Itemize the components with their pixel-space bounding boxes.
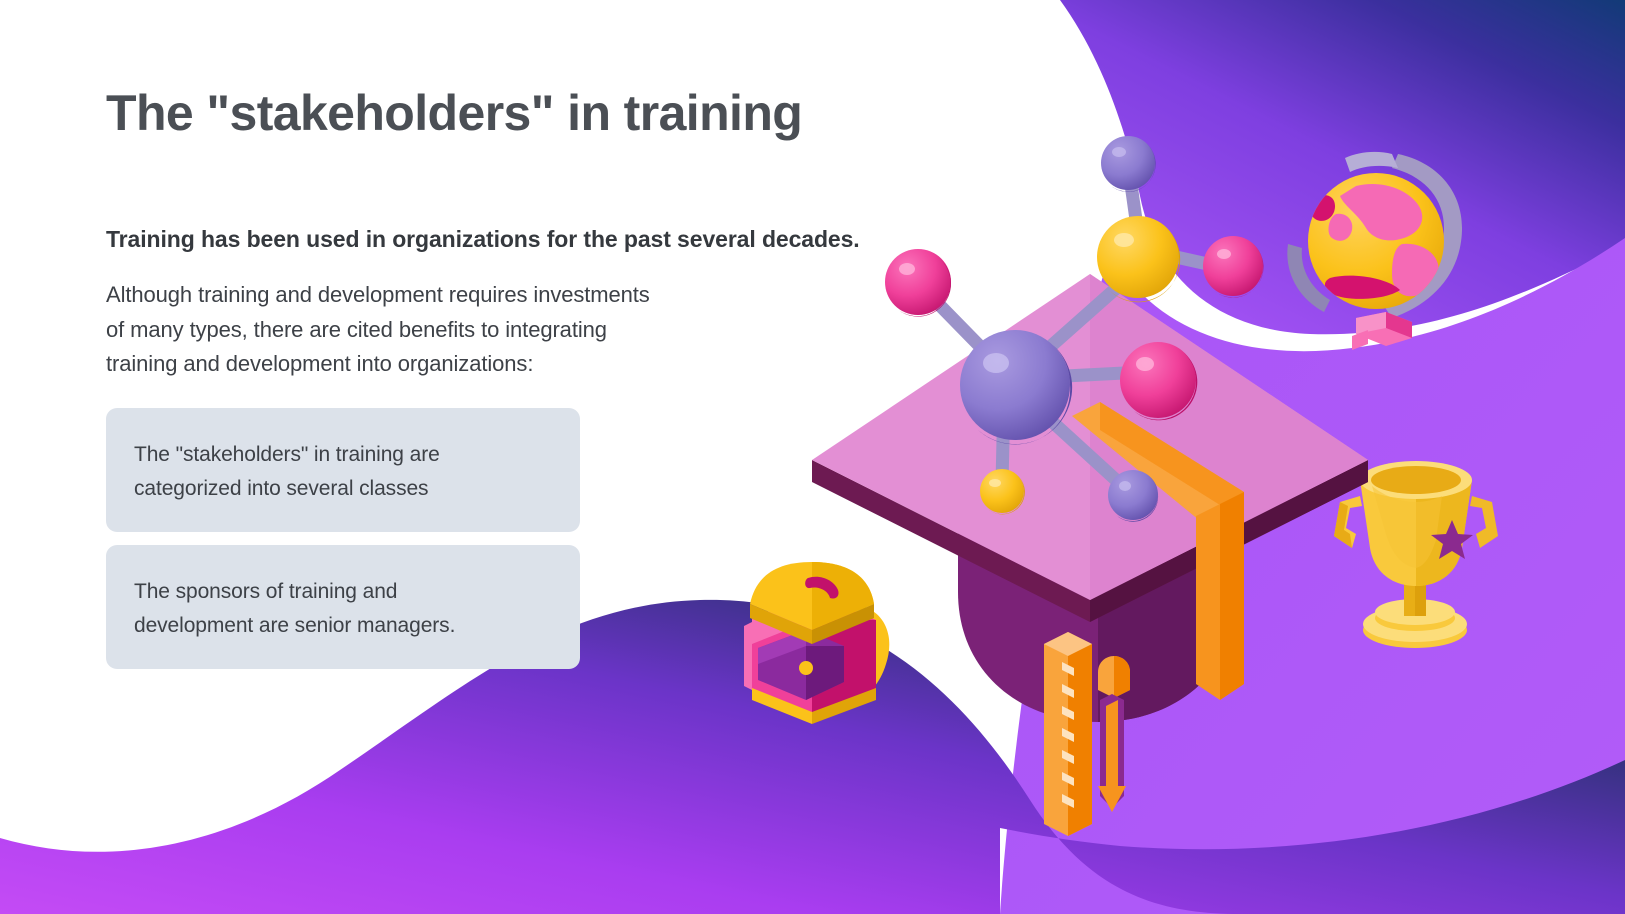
atom-yellow-upper xyxy=(1097,216,1180,302)
cap-board-top xyxy=(812,274,1368,600)
trophy-star-icon xyxy=(1431,520,1473,559)
bond-core-pinkright xyxy=(1026,372,1144,378)
callout-card-stakeholders[interactable]: The "stakeholders" in training are categ… xyxy=(106,408,580,532)
body-paragraph-line-3: training and development into organizati… xyxy=(106,347,746,382)
bond-core-pinkleft xyxy=(918,283,1005,372)
callout-card-list: The "stakeholders" in training are categ… xyxy=(106,408,580,682)
body-paragraph-line-1: Although training and development requir… xyxy=(106,278,746,313)
page-title: The "stakeholders" in training xyxy=(106,86,746,141)
bond-yellow-core xyxy=(1015,276,1130,378)
graduation-cap-icon xyxy=(812,274,1368,836)
callout-card-line: categorized into several classes xyxy=(134,472,552,506)
bond-yellow-pink xyxy=(1167,255,1221,267)
wave-top-right xyxy=(1060,0,1625,334)
body-paragraph: Although training and development requir… xyxy=(106,278,746,382)
atom-pink-right xyxy=(1120,342,1197,420)
bond-core-yellowbtm xyxy=(1002,397,1004,483)
ribbon-bookmark-icon xyxy=(1072,402,1244,700)
wave-right-purple xyxy=(1000,238,1625,914)
callout-card-sponsors[interactable]: The sponsors of training and development… xyxy=(106,545,580,669)
backpack-icon xyxy=(744,562,889,724)
callout-card-line: development are senior managers. xyxy=(134,609,552,643)
body-paragraph-line-2: of many types, there are cited benefits … xyxy=(106,313,746,348)
pencil-icon xyxy=(1044,632,1130,836)
atom-yellow-bottom xyxy=(980,469,1025,514)
lead-paragraph: Training has been used in organizations … xyxy=(106,226,860,253)
molecule-icon xyxy=(885,136,1263,522)
bond-purple-top xyxy=(1128,163,1139,241)
globe-icon xyxy=(1287,152,1462,350)
atom-purple-core xyxy=(960,330,1072,444)
cap-body xyxy=(958,505,1238,722)
atom-purple-bottom xyxy=(1108,470,1158,522)
atom-pink-upper-right xyxy=(1203,236,1263,298)
atom-pink-left xyxy=(885,249,951,317)
text-column: The "stakeholders" in training Training … xyxy=(106,86,746,141)
callout-card-line: The sponsors of training and xyxy=(134,575,552,609)
slide-root: The "stakeholders" in training Training … xyxy=(0,0,1625,914)
cap-board-edge xyxy=(812,460,1368,622)
atom-purple-top xyxy=(1101,136,1156,192)
callout-card-line: The "stakeholders" in training are xyxy=(134,438,552,472)
globe-base xyxy=(1352,312,1412,350)
trophy-icon xyxy=(1334,461,1498,648)
bond-core-purplebtm xyxy=(1024,396,1127,490)
wave-white-lobe xyxy=(700,232,1010,880)
